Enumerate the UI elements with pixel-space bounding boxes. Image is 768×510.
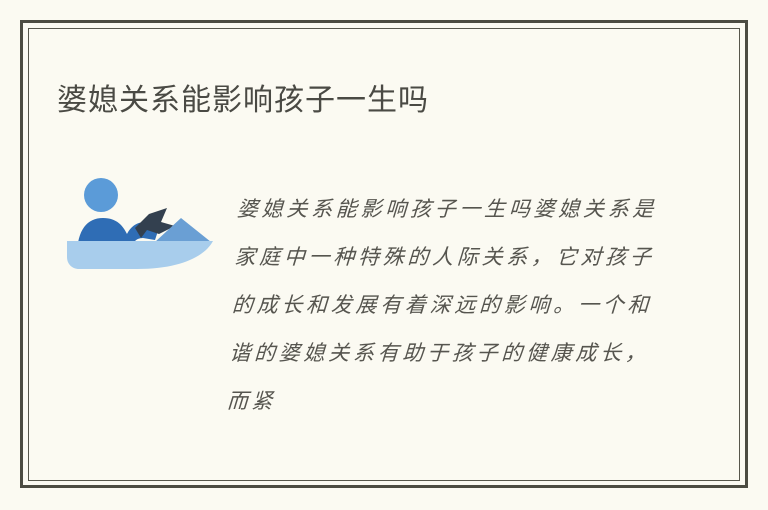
illustration-hull-shape (67, 241, 213, 269)
article-body-text: 婆媳关系能影响孩子一生吗婆媳关系是家庭中一种特殊的人际关系，它对孩子的成长和发展… (226, 185, 659, 425)
illustration-head-shape (84, 178, 118, 212)
article-page: 婆媳关系能影响孩子一生吗 婆媳关系能影响孩子一生吗婆媳关系是家庭中一种特殊的人际… (0, 0, 768, 510)
page-title: 婆媳关系能影响孩子一生吗 (57, 80, 707, 122)
person-in-boat-illustration (63, 168, 213, 278)
article-content: 婆媳关系能影响孩子一生吗婆媳关系是家庭中一种特殊的人际关系，它对孩子的成长和发展… (57, 160, 657, 420)
